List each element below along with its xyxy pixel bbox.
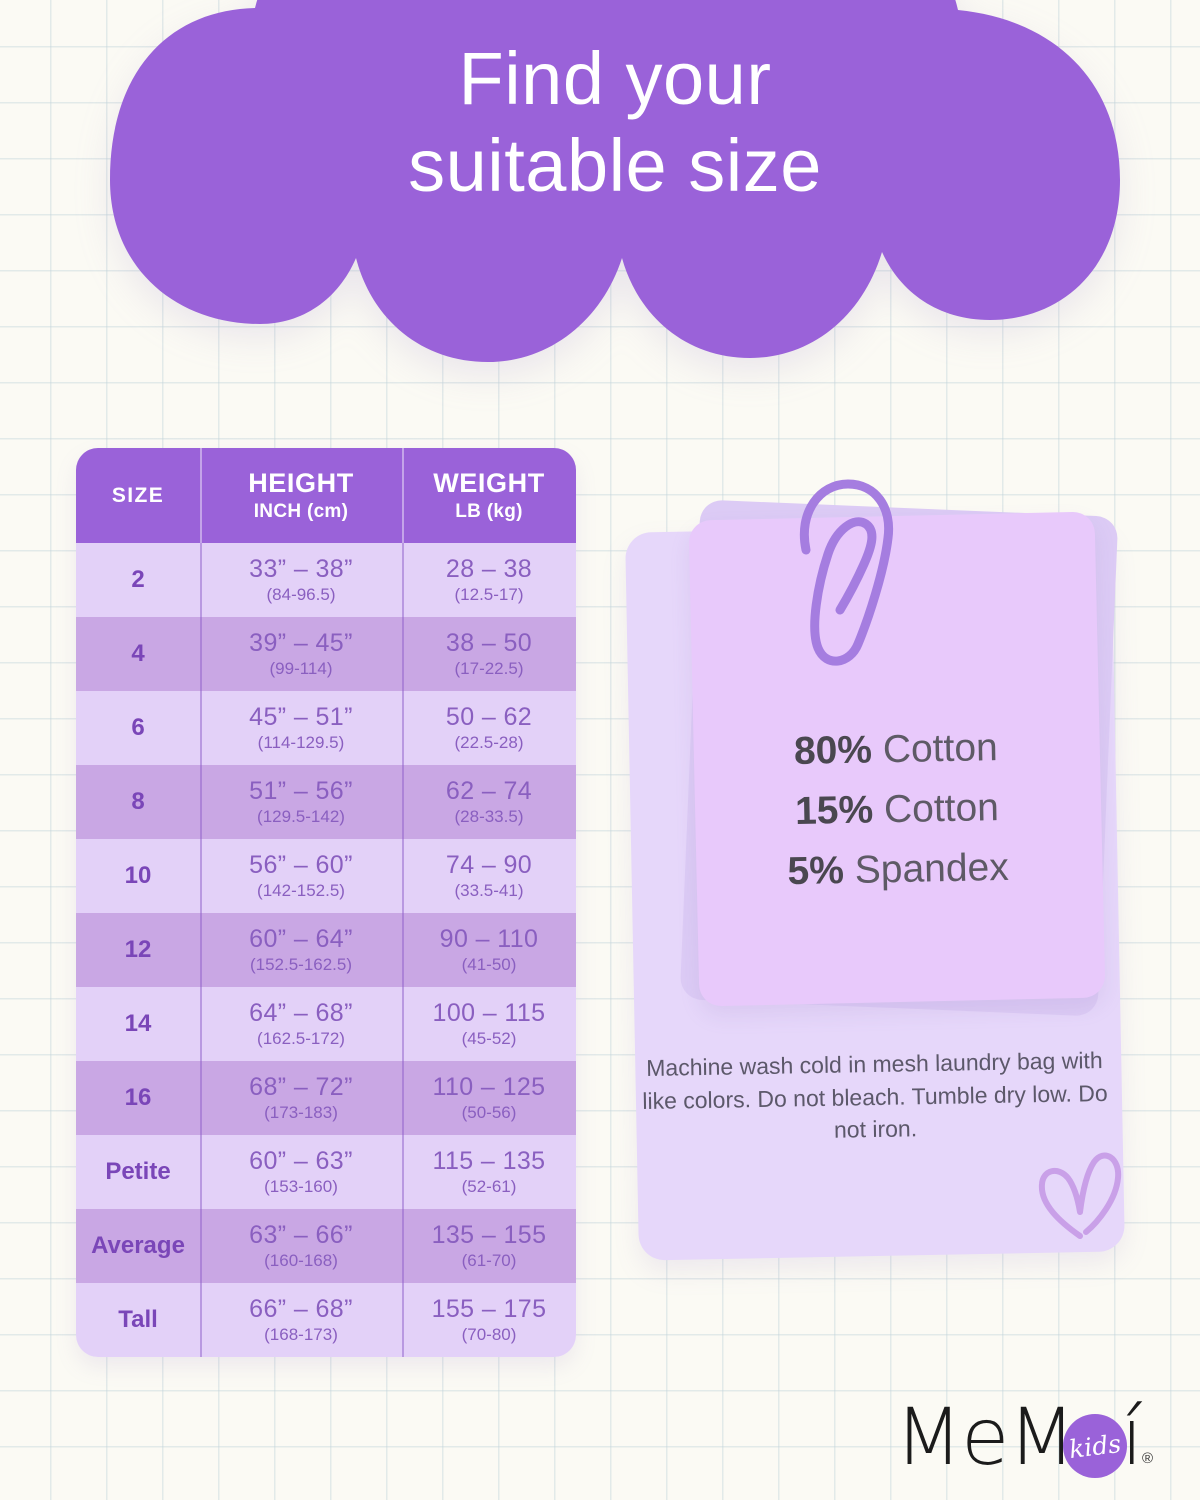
height-inch-value: 33” – 38” [249,555,353,584]
table-row: Average63” – 66”(160-168)135 – 155(61-70… [76,1209,576,1283]
height-inch-value: 64” – 68” [249,999,353,1028]
cell-weight: 115 – 135(52-61) [402,1135,576,1209]
height-inch-value: 63” – 66” [249,1221,353,1250]
cell-height: 33” – 38”(84-96.5) [200,543,402,617]
height-cm-value: (168-173) [264,1325,338,1345]
table-row: 1668” – 72”(173-183)110 – 125(50-56) [76,1061,576,1135]
weight-kg-value: (17-22.5) [455,659,524,679]
brand-logo: MeMoí kids ® [895,1392,1163,1484]
weight-lb-value: 135 – 155 [432,1221,547,1250]
size-chart-table: SIZE HEIGHT INCH (cm) WEIGHT LB (kg) 233… [76,448,576,1357]
table-row: 645” – 51”(114-129.5)50 – 62(22.5-28) [76,691,576,765]
kids-badge: kids [1063,1414,1127,1478]
cell-height: 45” – 51”(114-129.5) [200,691,402,765]
height-cm-value: (162.5-172) [257,1029,345,1049]
height-cm-value: (129.5-142) [257,807,345,827]
weight-lb-value: 50 – 62 [446,703,532,732]
cell-height: 63” – 66”(160-168) [200,1209,402,1283]
weight-kg-value: (50-56) [462,1103,517,1123]
height-cm-value: (114-129.5) [258,733,345,753]
table-row: 439” – 45”(99-114)38 – 50(17-22.5) [76,617,576,691]
weight-lb-value: 155 – 175 [432,1295,547,1324]
height-inch-value: 68” – 72” [249,1073,353,1102]
height-inch-value: 51” – 56” [249,777,353,806]
weight-kg-value: (22.5-28) [455,733,524,753]
size-value: 6 [131,714,144,742]
registered-trademark-icon: ® [1142,1450,1153,1467]
cell-size: 6 [76,691,200,765]
cell-height: 60” – 63”(153-160) [200,1135,402,1209]
cell-weight: 28 – 38(12.5-17) [402,543,576,617]
size-value: 14 [125,1010,152,1038]
cell-height: 56” – 60”(142-152.5) [200,839,402,913]
height-cm-value: (153-160) [264,1177,338,1197]
cell-size: 14 [76,987,200,1061]
composition-line: 5% Spandex [695,836,1102,904]
table-row: 1056” – 60”(142-152.5)74 – 90(33.5-41) [76,839,576,913]
weight-lb-value: 115 – 135 [433,1147,546,1176]
height-cm-value: (99-114) [270,659,333,679]
height-cm-value: (160-168) [264,1251,338,1271]
weight-kg-value: (41-50) [462,955,517,975]
size-value: 12 [125,936,152,964]
composition-line: 80% Cotton [692,716,1099,784]
title-line-2: suitable size [110,122,1120,209]
size-value: Tall [118,1306,158,1334]
size-value: Average [91,1232,185,1260]
table-row: Petite60” – 63”(153-160)115 – 135(52-61) [76,1135,576,1209]
height-inch-value: 45” – 51” [249,703,353,732]
composition-line: 15% Cotton [693,776,1100,844]
table-header-row: SIZE HEIGHT INCH (cm) WEIGHT LB (kg) [76,448,576,543]
weight-kg-value: (12.5-17) [455,585,524,605]
height-inch-value: 66” – 68” [249,1295,353,1324]
height-cm-value: (84-96.5) [267,585,336,605]
size-value: 2 [131,566,144,594]
paperclip-icon [792,472,902,672]
composition-percent: 5% [787,849,844,893]
size-value: 10 [125,862,152,890]
cell-size: 16 [76,1061,200,1135]
composition-material: Cotton [884,786,1000,831]
composition-material: Cotton [882,726,998,771]
cell-size: Petite [76,1135,200,1209]
cell-weight: 62 – 74(28-33.5) [402,765,576,839]
composition-material: Spandex [854,846,1009,892]
cell-height: 39” – 45”(99-114) [200,617,402,691]
weight-lb-value: 28 – 38 [446,555,532,584]
weight-lb-value: 74 – 90 [446,851,532,880]
care-instructions-text: Machine wash cold in mesh laundry bag wi… [639,1044,1111,1150]
page-title: Find your suitable size [110,35,1120,210]
heart-icon [1036,1152,1122,1244]
infographic-page: Find your suitable size SIZE HEIGHT INCH… [0,0,1200,1500]
table-row: 1260” – 64”(152.5-162.5)90 – 110(41-50) [76,913,576,987]
column-header-height: HEIGHT INCH (cm) [200,448,402,543]
size-value: 4 [131,640,144,668]
weight-kg-value: (45-52) [462,1029,517,1049]
cell-size: 4 [76,617,200,691]
cell-weight: 38 – 50(17-22.5) [402,617,576,691]
column-header-weight: WEIGHT LB (kg) [402,448,576,543]
size-value: 16 [125,1084,152,1112]
height-inch-value: 56” – 60” [249,851,353,880]
cell-height: 66” – 68”(168-173) [200,1283,402,1357]
weight-lb-value: 100 – 115 [433,999,546,1028]
height-inch-value: 60” – 64” [249,925,353,954]
cell-weight: 74 – 90(33.5-41) [402,839,576,913]
weight-kg-value: (61-70) [462,1251,517,1271]
cell-weight: 90 – 110(41-50) [402,913,576,987]
size-value: Petite [105,1158,170,1186]
cell-weight: 110 – 125(50-56) [402,1061,576,1135]
weight-lb-value: 90 – 110 [440,925,539,954]
cell-size: Average [76,1209,200,1283]
table-row: 851” – 56”(129.5-142)62 – 74(28-33.5) [76,765,576,839]
table-row: 233” – 38”(84-96.5)28 – 38(12.5-17) [76,543,576,617]
cell-weight: 155 – 175(70-80) [402,1283,576,1357]
kids-badge-label: kids [1067,1428,1122,1463]
cell-height: 64” – 68”(162.5-172) [200,987,402,1061]
cell-height: 60” – 64”(152.5-162.5) [200,913,402,987]
cell-size: 10 [76,839,200,913]
weight-lb-value: 62 – 74 [446,777,532,806]
title-line-1: Find your [459,37,772,120]
composition-text-block: 80% Cotton 15% Cotton 5% Spandex [692,716,1101,904]
cell-size: Tall [76,1283,200,1357]
weight-kg-value: (33.5-41) [455,881,524,901]
cell-size: 8 [76,765,200,839]
height-cm-value: (142-152.5) [257,881,345,901]
column-header-size: SIZE [76,448,200,543]
height-inch-value: 39” – 45” [249,629,353,658]
height-cm-value: (152.5-162.5) [250,955,352,975]
weight-lb-value: 38 – 50 [446,629,532,658]
size-value: 8 [131,788,144,816]
weight-lb-value: 110 – 125 [433,1073,546,1102]
cell-weight: 100 – 115(45-52) [402,987,576,1061]
weight-kg-value: (52-61) [462,1177,517,1197]
composition-percent: 80% [794,728,873,772]
weight-kg-value: (70-80) [462,1325,517,1345]
composition-percent: 15% [795,789,874,833]
table-row: 1464” – 68”(162.5-172)100 – 115(45-52) [76,987,576,1061]
table-row: Tall66” – 68”(168-173)155 – 175(70-80) [76,1283,576,1357]
cell-weight: 50 – 62(22.5-28) [402,691,576,765]
height-cm-value: (173-183) [264,1103,338,1123]
cell-height: 51” – 56”(129.5-142) [200,765,402,839]
table-body: 233” – 38”(84-96.5)28 – 38(12.5-17)439” … [76,543,576,1357]
height-inch-value: 60” – 63” [249,1147,353,1176]
cell-size: 2 [76,543,200,617]
cell-height: 68” – 72”(173-183) [200,1061,402,1135]
weight-kg-value: (28-33.5) [455,807,524,827]
cell-size: 12 [76,913,200,987]
cell-weight: 135 – 155(61-70) [402,1209,576,1283]
